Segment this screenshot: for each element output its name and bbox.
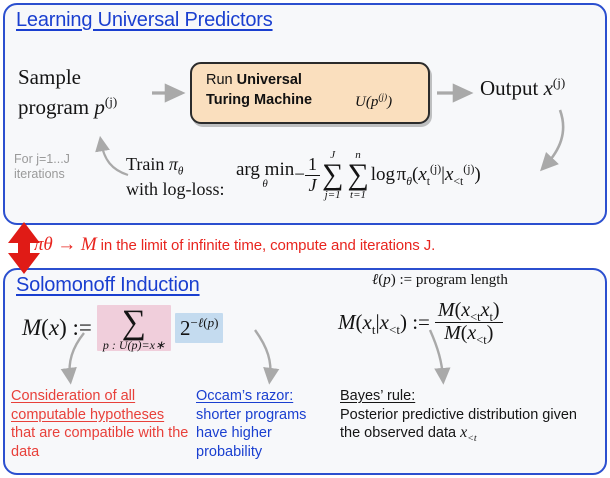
note-bayes-rule: Bayes’ rule: Posterior predictive distri…	[340, 387, 590, 443]
log-loss-objective-formula: arg min θ − 1 J J ∑ j=1 n ∑ t=1 log πθ(x…	[236, 150, 481, 201]
sample-program-symbol: p	[94, 95, 105, 119]
utm-math-expression: U(p(j))	[355, 94, 392, 111]
note-2-body: shorter programs have higher probability	[196, 407, 306, 460]
note-2-heading: Occam’s razor:	[196, 388, 293, 404]
sigma-glyph-programs: ∑	[103, 307, 165, 339]
note-1-body: that are compatible with the data	[11, 425, 188, 460]
utm-universal-word: Universal	[237, 72, 302, 88]
predictive-numerator: M(x<txt)	[435, 300, 503, 323]
sum-over-j: J ∑ j=1	[322, 150, 343, 201]
output-word: Output	[480, 76, 544, 100]
sample-program-label: Sample program p(j)	[18, 62, 188, 122]
note-3-body-math: x<t	[460, 424, 477, 441]
policy-pi-theta-symbol: πθ	[169, 154, 184, 174]
page-title-learning-universal-predictors: Learning Universal Predictors	[16, 9, 273, 32]
sum-programs-subscript: p : U(p)=x∗	[103, 339, 165, 351]
sum-over-programs: ∑ p : U(p)=x∗	[97, 305, 171, 351]
program-length-definition: ℓ(p) := program length	[372, 272, 508, 289]
sum-t-lower-limit: t=1	[347, 190, 368, 201]
note-all-computable-hypotheses: Consideration of all computable hypothes…	[11, 387, 191, 461]
with-log-loss-text: with log-loss:	[126, 179, 225, 199]
sample-line-1: Sample	[18, 65, 81, 89]
sample-line-2-prefix: program	[18, 95, 94, 119]
predictive-denominator: M(x<t)	[435, 323, 503, 345]
note-3-body: Posterior predictive distribution given …	[340, 407, 577, 442]
utm-line-1: Run Universal	[206, 72, 302, 88]
argmin-operator: arg min θ	[236, 160, 294, 190]
sample-program-superscript: (j)	[105, 94, 117, 109]
train-word: Train	[126, 154, 164, 174]
conditional-lhs: M(xt|x<t) :=	[338, 310, 430, 334]
two-to-the-minus-ell-p: 2−ℓ(p)	[175, 313, 223, 343]
pi-to-m-math: πθ → M	[34, 234, 97, 255]
argmin-label: arg min	[236, 160, 294, 179]
note-occams-razor: Occam’s razor: shorter programs have hig…	[196, 387, 336, 461]
argmin-subscript: θ	[236, 179, 294, 190]
output-superscript: (j)	[553, 75, 565, 90]
sum-over-t: n ∑ t=1	[347, 150, 368, 201]
figure-canvas: Learning Universal Predictors Sample pro…	[0, 0, 610, 478]
one-over-j-fraction: 1 J	[305, 155, 320, 195]
note-3-heading: Bayes’ rule:	[340, 388, 415, 404]
page-title-solomonoff-induction: Solomonoff Induction	[16, 274, 200, 297]
conditional-predictive-formula: M(xt|x<t) := M(x<txt) M(x<t)	[338, 300, 503, 344]
m-of-x-lhs: M(x) :=	[22, 315, 92, 340]
limit-statement-text: πθ → M in the limit of infinite time, co…	[34, 234, 435, 256]
predictive-fraction: M(x<txt) M(x<t)	[435, 300, 503, 344]
sum-j-lower-limit: j=1	[322, 190, 343, 201]
limit-statement-sentence: in the limit of infinite time, compute a…	[97, 237, 436, 254]
train-with-log-loss-label: Train πθ with log-loss:	[126, 152, 246, 202]
sigma-glyph-j: ∑	[322, 161, 343, 190]
minus-sign: −	[294, 164, 305, 185]
solomonoff-prior-formula: M(x) := ∑ p : U(p)=x∗ 2−ℓ(p)	[22, 305, 223, 351]
utm-line-2: Turing Machine	[206, 92, 312, 108]
output-symbol: x	[544, 76, 553, 100]
fraction-numerator: 1	[305, 155, 320, 175]
utm-run-word: Run	[206, 72, 237, 88]
loop-caption: For j=1...J iterations	[14, 152, 119, 182]
note-1-heading: Consideration of all computable hypothes…	[11, 388, 164, 423]
universal-turing-machine-box: Run Universal Turing Machine U(p(j))	[190, 62, 430, 124]
log-likelihood-term: log πθ(xt(j)|x<t(j))	[371, 164, 481, 185]
sigma-glyph-t: ∑	[347, 161, 368, 190]
fraction-denominator: J	[305, 176, 320, 195]
output-label: Output x(j)	[480, 76, 565, 101]
